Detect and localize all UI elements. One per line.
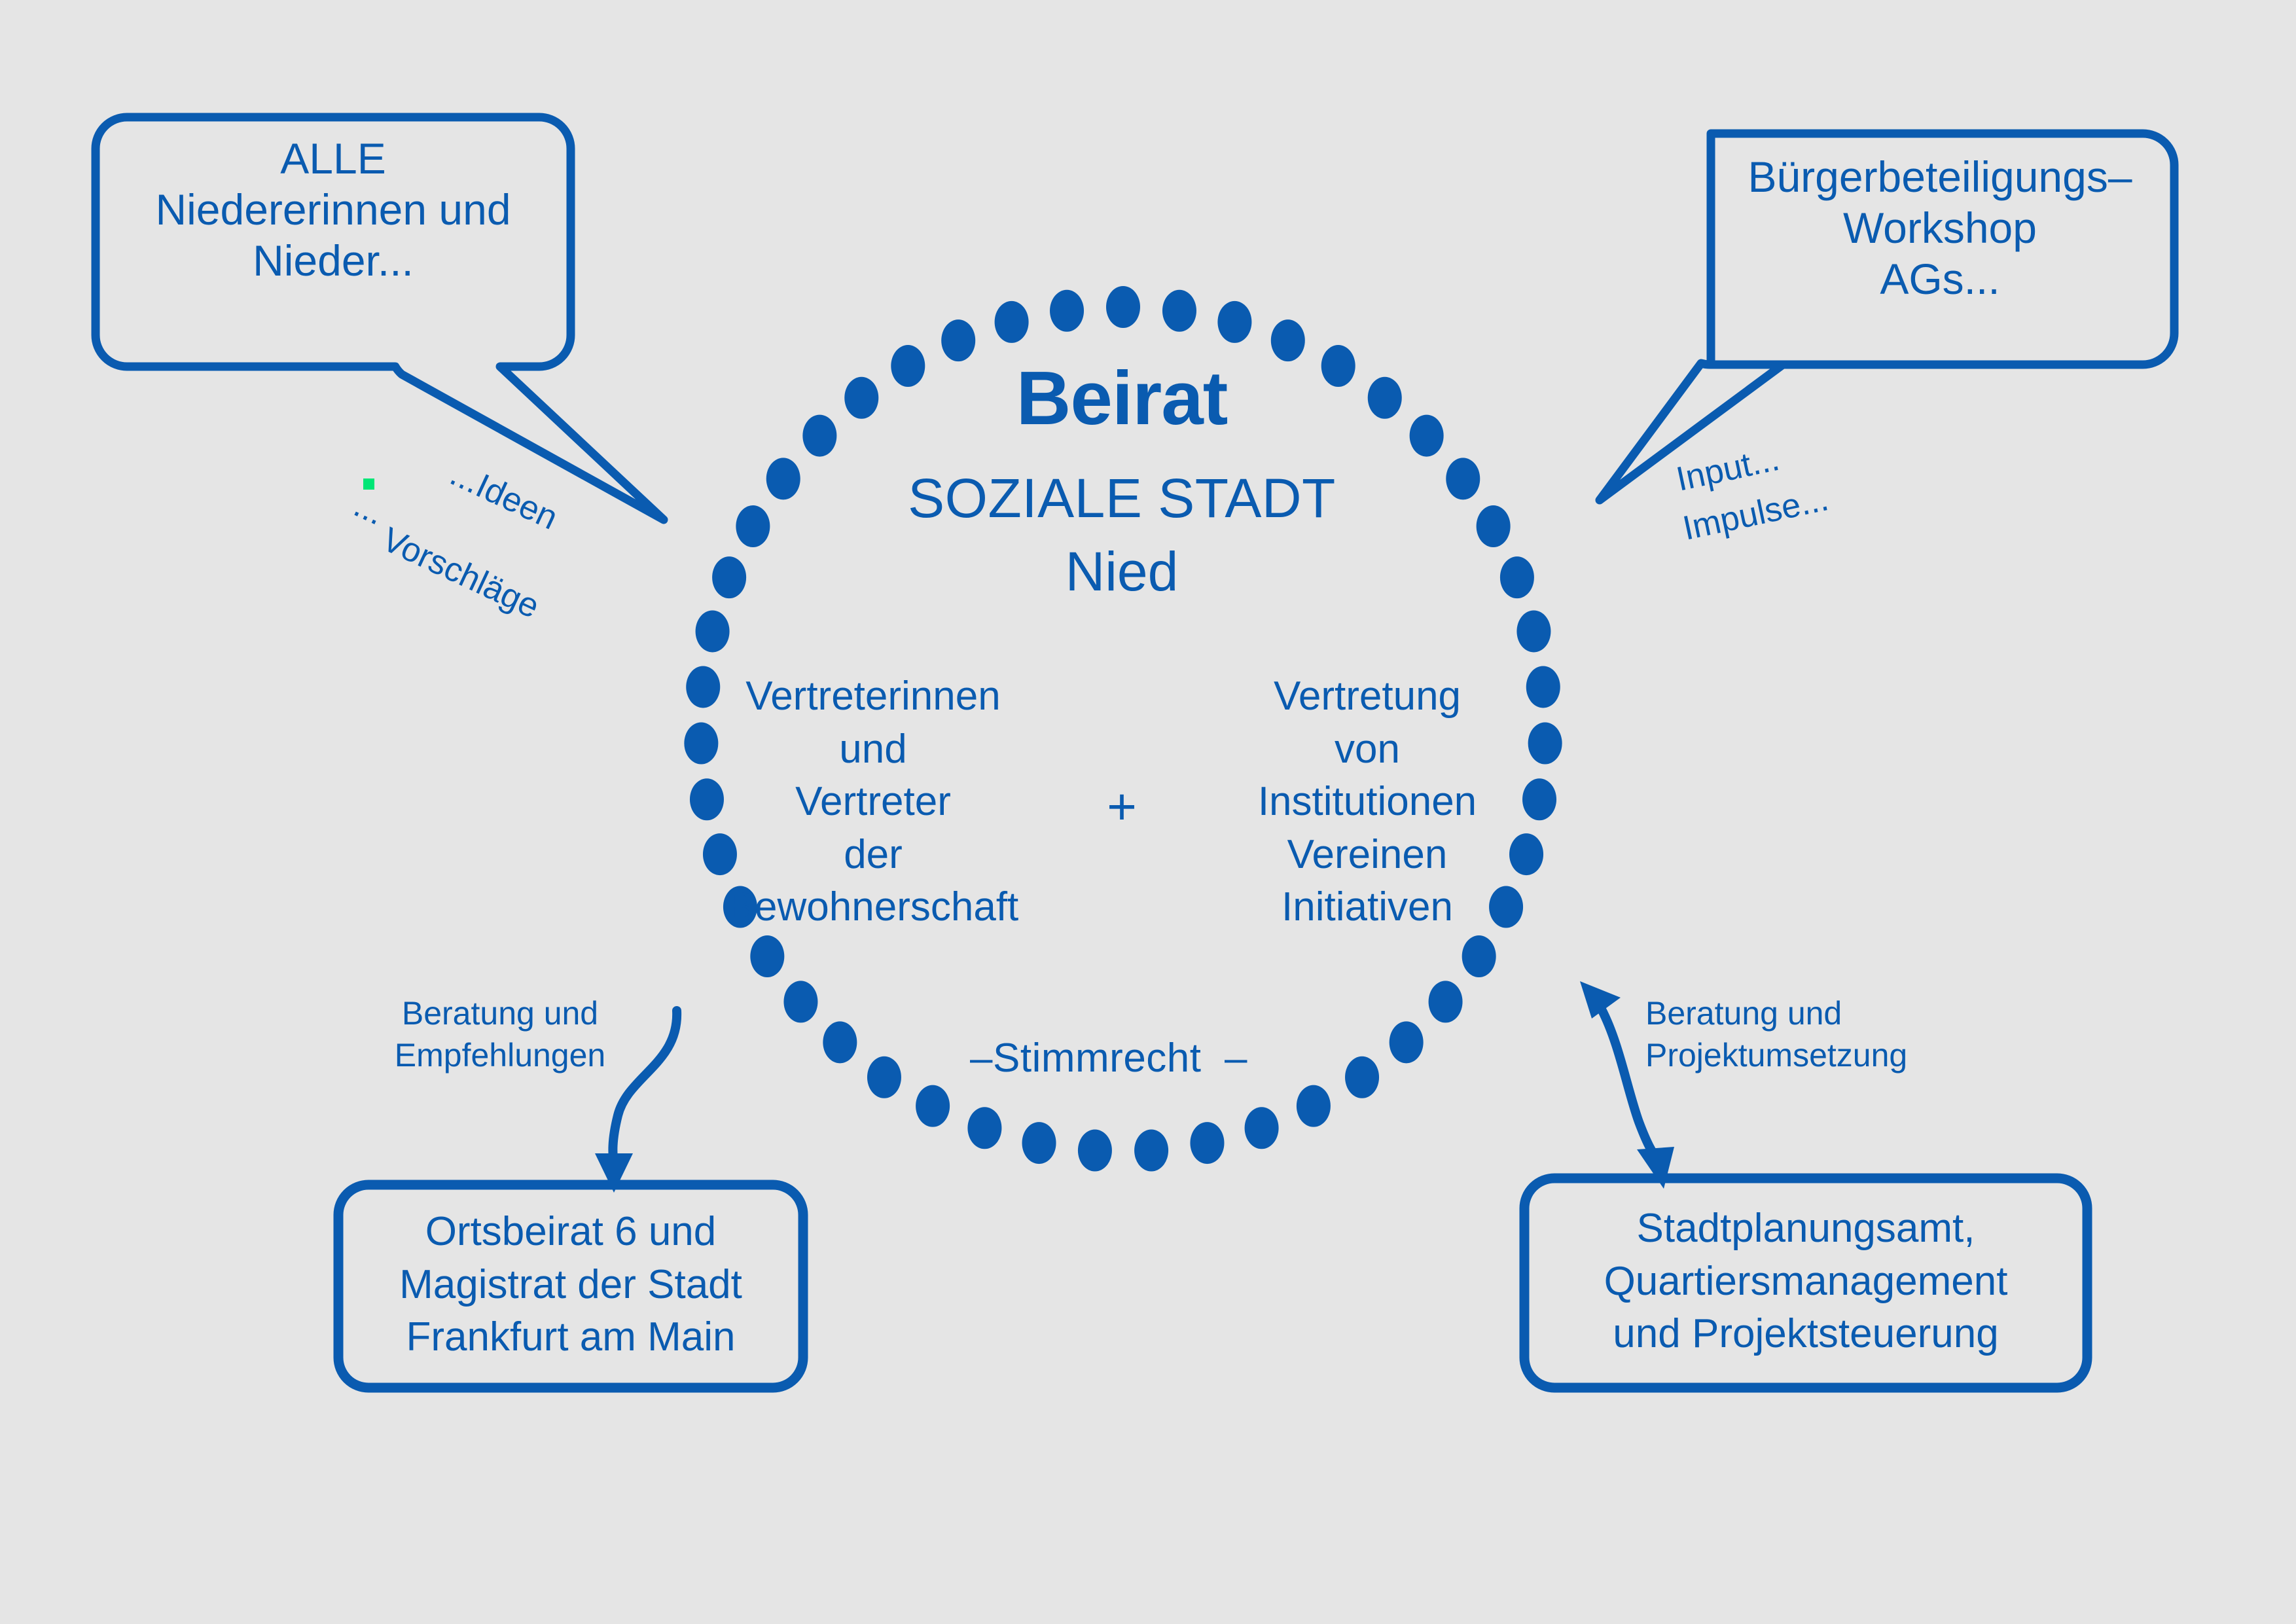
left-column-text: VertreterinnenundVertreterderBewohnersch… [700, 670, 1047, 934]
ring-dot [1516, 610, 1551, 652]
bottom-right-box-text: Stadtplanungsamt,Quartiersmanagementund … [1524, 1202, 2087, 1361]
ring-dot [1162, 290, 1196, 332]
ring-dot [696, 610, 730, 652]
plus-operator: + [1076, 778, 1168, 835]
annotation-beratung-projektumsetzung: Beratung undProjektumsetzung [1645, 992, 1953, 1076]
ring-dot [1078, 1130, 1112, 1172]
page-title: Beirat [795, 356, 1449, 441]
ring-dot [736, 505, 770, 547]
ring-dot [1390, 1021, 1424, 1063]
ring-dot [1245, 1107, 1279, 1149]
ring-dot [941, 319, 975, 361]
ring-dot [1446, 458, 1480, 499]
speech-bubble-top-right-text: Bürgerbeteiligungs–WorkshopAGs... [1704, 152, 2176, 305]
ring-dot [1050, 290, 1084, 332]
ring-dot [783, 981, 817, 1022]
ring-dot [1500, 556, 1534, 598]
ring-dot [712, 556, 746, 598]
ring-dot [1134, 1130, 1168, 1172]
green-marker-dot [363, 478, 374, 490]
ring-dot [1217, 301, 1251, 343]
ring-dot [1345, 1056, 1379, 1098]
speech-bubble-top-left-text: ALLENiedererinnen undNieder... [96, 134, 571, 287]
ring-dot [916, 1085, 950, 1127]
ring-dot [1477, 505, 1511, 547]
ring-dot [1462, 935, 1496, 977]
ring-dot [1022, 1122, 1056, 1164]
annotation-beratung-empfehlungen: Beratung undEmpfehlungen [363, 992, 637, 1076]
stimmrecht-note: –Stimmrecht – [925, 1036, 1292, 1081]
ring-dot [1106, 286, 1140, 328]
location-label: Nied [795, 541, 1449, 602]
ring-dot [823, 1021, 857, 1063]
diagram-canvas: ALLENiedererinnen undNieder... Bürgerbet… [0, 0, 2296, 1624]
bottom-left-box-text: Ortsbeirat 6 undMagistrat der StadtFrank… [338, 1206, 803, 1364]
ring-dot [1190, 1122, 1224, 1164]
ring-dot [867, 1056, 901, 1098]
ring-dot [1271, 319, 1305, 361]
ring-dot [967, 1107, 1001, 1149]
ring-dot [1297, 1085, 1331, 1127]
ring-dot [1429, 981, 1463, 1022]
right-column-text: VertretungvonInstitutionenVereinenInitia… [1194, 670, 1541, 934]
ring-dot [995, 301, 1029, 343]
subtitle: SOZIALE STADT [795, 467, 1449, 529]
ring-dot [750, 935, 784, 977]
